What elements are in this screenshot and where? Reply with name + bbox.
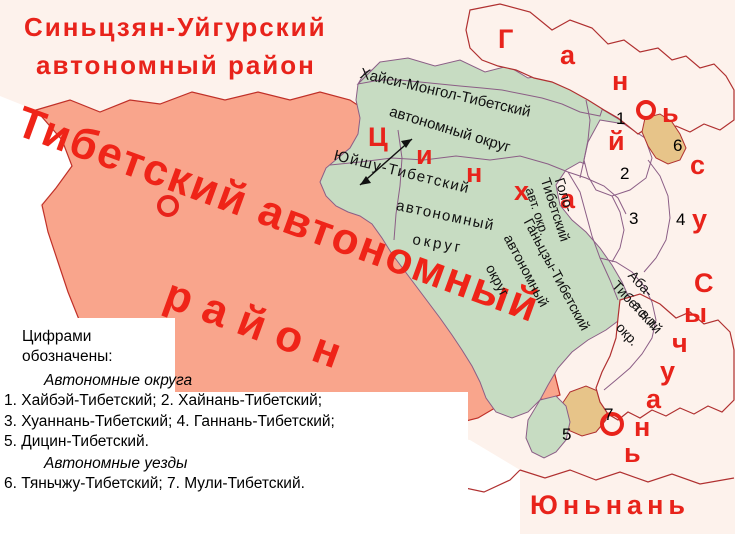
legend-section-uezdy: Автономные уезды	[22, 454, 452, 474]
legend-header-line2: обозначены:	[22, 347, 452, 367]
legend-row-3: 5. Дицин-Тибетский.	[4, 432, 452, 452]
legend: Цифрами обозначены: Автономные округа 1.…	[22, 327, 452, 494]
legend-row-4: 6. Тяньчжу-Тибетский; 7. Мули-Тибетский.	[4, 474, 452, 494]
map-container: Синьцзян-Уйгурский автономный район Тибе…	[0, 0, 735, 534]
legend-row-1: 1. Хайбэй-Тибетский; 2. Хайнань-Тибетски…	[4, 391, 452, 411]
legend-section-okruga: Автономные округа	[22, 371, 452, 391]
legend-row-2: 3. Хуаннань-Тибетский; 4. Ганнань-Тибетс…	[4, 412, 452, 432]
legend-header-line1: Цифрами	[22, 327, 452, 347]
